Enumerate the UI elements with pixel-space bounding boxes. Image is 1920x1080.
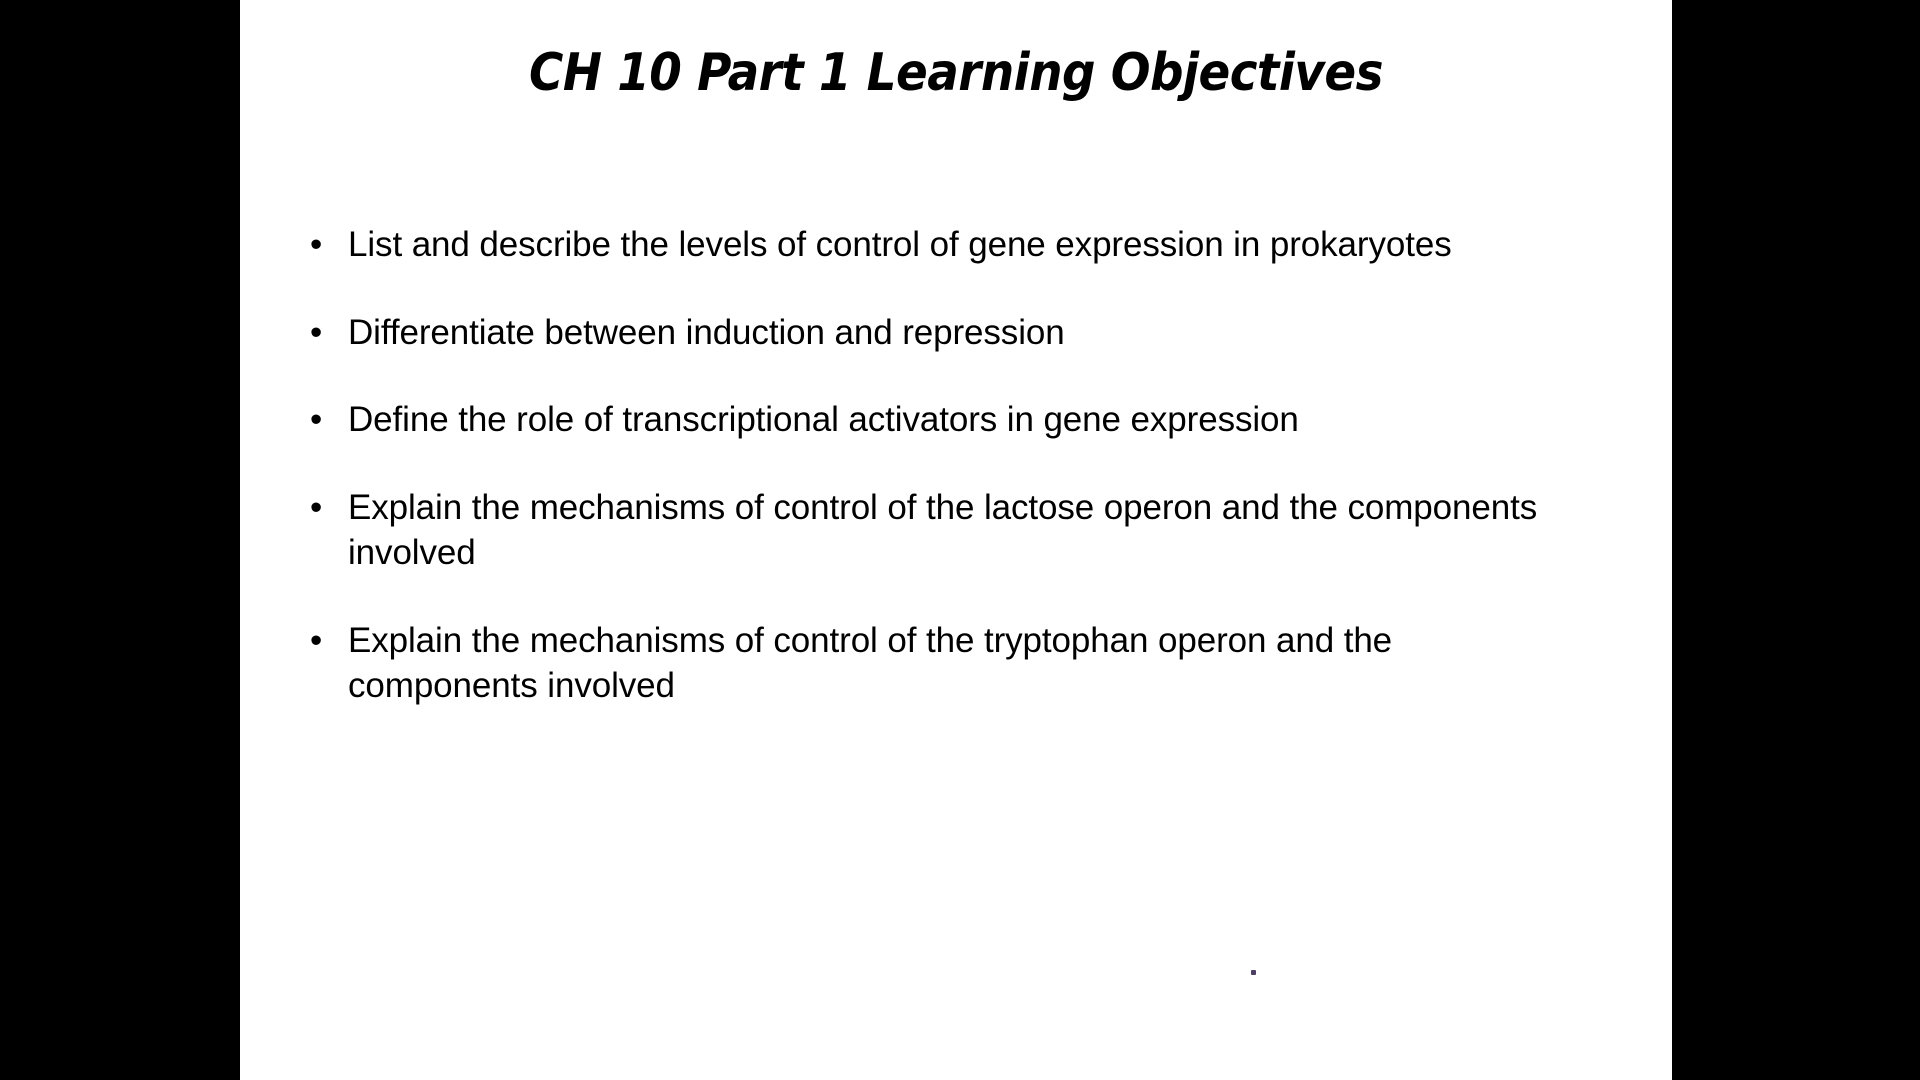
bullet-point-icon: • <box>310 310 322 356</box>
slide-title: CH 10 Part 1 Learning Objectives <box>240 46 1672 101</box>
slide-canvas[interactable]: CH 10 Part 1 Learning Objectives • List … <box>240 0 1672 1080</box>
list-item: • Define the role of transcriptional act… <box>276 397 1636 443</box>
letterbox-left <box>0 0 240 1080</box>
objectives-bullet-list: • List and describe the levels of contro… <box>276 222 1636 709</box>
list-item-text: Define the role of transcriptional activ… <box>348 397 1558 443</box>
list-item-text: Differentiate between induction and repr… <box>348 310 1558 356</box>
list-item-text: Explain the mechanisms of control of the… <box>348 485 1558 576</box>
list-item: • List and describe the levels of contro… <box>276 222 1636 268</box>
stray-ink-mark <box>1251 970 1256 975</box>
bullet-point-icon: • <box>310 222 322 268</box>
list-item-text: List and describe the levels of control … <box>348 222 1558 268</box>
letterbox-right <box>1672 0 1920 1080</box>
list-item-text: Explain the mechanisms of control of the… <box>348 618 1558 709</box>
bullet-point-icon: • <box>310 618 322 664</box>
bullet-point-icon: • <box>310 485 322 531</box>
list-item: • Explain the mechanisms of control of t… <box>276 485 1636 576</box>
slideshow-viewport: CH 10 Part 1 Learning Objectives • List … <box>0 0 1920 1080</box>
list-item: • Differentiate between induction and re… <box>276 310 1636 356</box>
list-item: • Explain the mechanisms of control of t… <box>276 618 1636 709</box>
bullet-point-icon: • <box>310 397 322 443</box>
